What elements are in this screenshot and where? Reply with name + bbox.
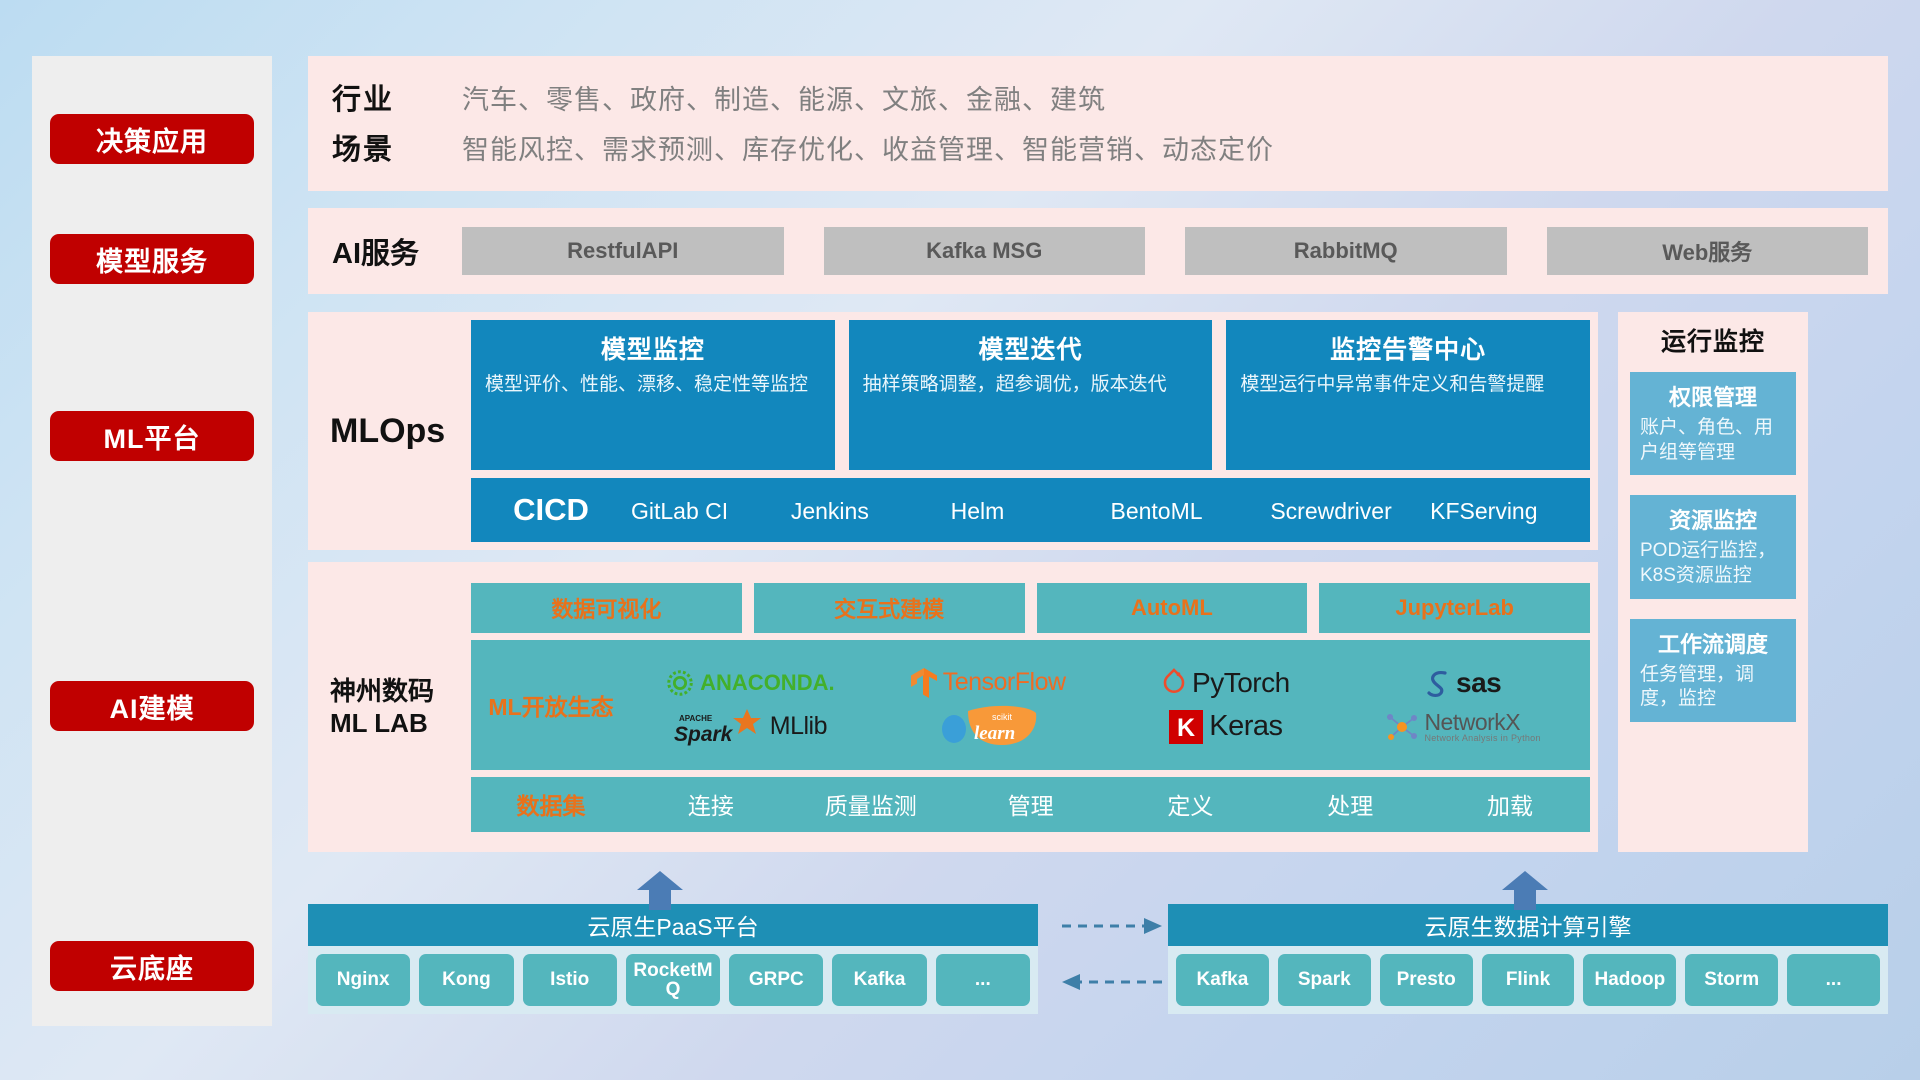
data-chip-spark[interactable]: Spark [1278, 954, 1371, 1006]
mlops-card-list: 模型监控 模型评价、性能、漂移、稳定性等监控 模型迭代 抽样策略调整，超参调优，… [471, 320, 1590, 470]
paas-chip-kong[interactable]: Kong [419, 954, 513, 1006]
monitor-card-workflow[interactable]: 工作流调度 任务管理，调度，监控 [1630, 619, 1796, 722]
service-chip-kafka-msg[interactable]: Kafka MSG [824, 227, 1146, 275]
svg-text:K: K [1177, 714, 1195, 742]
networkx-logo: NetworkX Network Analysis in Python [1385, 710, 1540, 744]
rail-item-label: 决策应用 [96, 120, 208, 159]
dataset-label: 数据集 [471, 787, 631, 821]
mlops-card-model-monitoring[interactable]: 模型监控 模型评价、性能、漂移、稳定性等监控 [471, 320, 835, 470]
pytorch-logo: PyTorch [1161, 667, 1290, 699]
paas-header: 云原生PaaS平台 [308, 904, 1038, 946]
sas-mark-icon [1425, 668, 1451, 698]
card-desc: 任务管理，调度，监控 [1640, 663, 1786, 712]
data-chip-storm[interactable]: Storm [1685, 954, 1778, 1006]
paas-chip-nginx[interactable]: Nginx [316, 954, 410, 1006]
card-desc: 模型运行中异常事件定义和告警提醒 [1240, 372, 1576, 397]
card-title: 模型监控 [485, 330, 821, 366]
scikit-orange-blob-icon: scikit learn [966, 705, 1040, 749]
sas-logo: sas [1425, 667, 1501, 699]
ml-ecosystem-label: ML开放生态 [471, 688, 631, 722]
paas-chip-rocketmq[interactable]: RocketMQ [626, 954, 720, 1006]
dataset-item-manage[interactable]: 管理 [951, 787, 1111, 821]
ml-lab-label-line2: ML LAB [330, 707, 471, 740]
cicd-item-kfserving[interactable]: KFServing [1430, 497, 1590, 523]
rail-item-label: ML平台 [104, 417, 201, 456]
spark-mllib-logo: APACHE Spark MLlib [673, 707, 827, 747]
ml-lab-tab-list: 数据可视化 交互式建模 AutoML JupyterLab [471, 583, 1590, 633]
card-desc: POD运行监控，K8S资源监控 [1640, 539, 1786, 588]
keras-wordmark: Keras [1209, 710, 1282, 743]
monitor-card-permission[interactable]: 权限管理 账户、角色、用户组等管理 [1630, 372, 1796, 475]
up-arrow-icon [633, 870, 687, 910]
keras-mark-icon: K [1168, 709, 1204, 745]
mlops-label: MLOps [308, 412, 471, 451]
decision-apps-band: 行业 汽车、零售、政府、制造、能源、文旅、金融、建筑 场景 智能风控、需求预测、… [308, 56, 1888, 191]
cloud-native-data-engine-group: 云原生数据计算引擎 Kafka Spark Presto Flink Hadoo… [1168, 904, 1888, 1014]
up-arrow-icon [1498, 870, 1552, 910]
tab-automl[interactable]: AutoML [1037, 583, 1308, 633]
cicd-item-jenkins[interactable]: Jenkins [791, 497, 951, 523]
industry-label: 行业 [332, 76, 462, 118]
svg-text:learn: learn [974, 723, 1015, 744]
rail-item-model-service[interactable]: 模型服务 [50, 234, 254, 284]
networkx-wordmark: NetworkX [1424, 711, 1540, 734]
runtime-monitoring-title: 运行监控 [1630, 322, 1796, 358]
card-title: 监控告警中心 [1240, 330, 1576, 366]
paas-chip-grpc[interactable]: GRPC [729, 954, 823, 1006]
pytorch-mark-icon [1161, 668, 1187, 698]
tensorflow-wordmark: TensorFlow [943, 668, 1066, 697]
card-desc: 模型评价、性能、漂移、稳定性等监控 [485, 372, 821, 397]
bidirectional-dashed-arrows-icon [1060, 912, 1164, 996]
paas-chip-kafka[interactable]: Kafka [832, 954, 926, 1006]
paas-chip-istio[interactable]: Istio [523, 954, 617, 1006]
dataset-item-process[interactable]: 处理 [1270, 787, 1430, 821]
runtime-monitoring-panel: 运行监控 权限管理 账户、角色、用户组等管理 资源监控 POD运行监控，K8S资… [1618, 312, 1808, 852]
rail-item-label: AI建模 [110, 687, 195, 726]
dataset-item-define[interactable]: 定义 [1110, 787, 1270, 821]
dataset-item-quality-monitor[interactable]: 质量监测 [791, 787, 951, 821]
svg-text:APACHE: APACHE [679, 714, 713, 723]
rail-item-label: 云底座 [110, 947, 194, 986]
card-title: 资源监控 [1640, 503, 1786, 535]
data-engine-chip-list: Kafka Spark Presto Flink Hadoop Storm ..… [1168, 946, 1888, 1014]
data-chip-kafka[interactable]: Kafka [1176, 954, 1269, 1006]
mllib-wordmark: MLlib [770, 712, 827, 741]
mlops-band: MLOps 模型监控 模型评价、性能、漂移、稳定性等监控 模型迭代 抽样策略调整… [308, 312, 1598, 550]
sas-wordmark: sas [1456, 667, 1501, 699]
rail-item-decision-apps[interactable]: 决策应用 [50, 114, 254, 164]
paas-chip-more[interactable]: ... [936, 954, 1030, 1006]
rail-item-label: 模型服务 [96, 240, 208, 279]
scenario-values: 智能风控、需求预测、库存优化、收益管理、智能营销、动态定价 [462, 128, 1274, 167]
card-title: 模型迭代 [863, 330, 1199, 366]
anaconda-logo: ANACONDA. [665, 668, 834, 698]
keras-logo: K Keras [1168, 709, 1282, 745]
svg-text:Spark: Spark [674, 723, 734, 746]
cloud-base-zone: 云原生PaaS平台 Nginx Kong Istio RocketMQ GRPC… [308, 870, 1888, 1030]
paas-chip-list: Nginx Kong Istio RocketMQ GRPC Kafka ... [308, 946, 1038, 1014]
dataset-item-list: 连接 质量监测 管理 定义 处理 加载 [631, 787, 1590, 821]
ml-lab-band: 神州数码 ML LAB 数据可视化 交互式建模 AutoML JupyterLa… [308, 562, 1598, 852]
pytorch-wordmark: PyTorch [1192, 667, 1290, 699]
mlops-card-model-iteration[interactable]: 模型迭代 抽样策略调整，超参调优，版本迭代 [849, 320, 1213, 470]
monitor-card-resource[interactable]: 资源监控 POD运行监控，K8S资源监控 [1630, 495, 1796, 598]
industry-row: 行业 汽车、零售、政府、制造、能源、文旅、金融、建筑 [332, 72, 1888, 122]
mlops-content: 模型监控 模型评价、性能、漂移、稳定性等监控 模型迭代 抽样策略调整，超参调优，… [471, 320, 1598, 542]
cicd-item-helm[interactable]: Helm [951, 497, 1111, 523]
cicd-item-gitlab-ci[interactable]: GitLab CI [631, 497, 791, 523]
cicd-item-screwdriver[interactable]: Screwdriver [1270, 497, 1430, 523]
cicd-row: CICD GitLab CI Jenkins Helm BentoML Scre… [471, 478, 1590, 542]
svg-text:scikit: scikit [992, 712, 1012, 722]
cicd-item-list: GitLab CI Jenkins Helm BentoML Screwdriv… [631, 497, 1590, 523]
industry-values: 汽车、零售、政府、制造、能源、文旅、金融、建筑 [462, 78, 1106, 117]
rail-item-ai-modeling[interactable]: AI建模 [50, 681, 254, 731]
tensorflow-logo: TensorFlow [910, 667, 1066, 699]
networkx-mark-icon [1385, 710, 1419, 744]
ml-ecosystem-row: ML开放生态 ANACONDA. TensorFlow [471, 640, 1590, 770]
dataset-row: 数据集 连接 质量监测 管理 定义 处理 加载 [471, 777, 1590, 832]
ai-service-chip-list: RestfulAPI Kafka MSG RabbitMQ Web服务 [462, 227, 1888, 275]
ml-lab-content: 数据可视化 交互式建模 AutoML JupyterLab ML开放生态 ANA… [471, 583, 1598, 832]
ai-service-band: AI服务 RestfulAPI Kafka MSG RabbitMQ Web服务 [308, 208, 1888, 294]
service-chip-web-service[interactable]: Web服务 [1547, 227, 1869, 275]
tab-jupyterlab[interactable]: JupyterLab [1319, 583, 1590, 633]
anaconda-mark-icon [665, 668, 695, 698]
cloud-native-paas-group: 云原生PaaS平台 Nginx Kong Istio RocketMQ GRPC… [308, 904, 1038, 1014]
anaconda-wordmark: ANACONDA. [700, 670, 834, 696]
rail-item-ml-platform[interactable]: ML平台 [50, 411, 254, 461]
spark-mark-icon: APACHE Spark [673, 707, 765, 747]
scenario-row: 场景 智能风控、需求预测、库存优化、收益管理、智能营销、动态定价 [332, 122, 1888, 172]
ml-lab-label: 神州数码 ML LAB [308, 675, 471, 740]
data-chip-flink[interactable]: Flink [1482, 954, 1575, 1006]
card-title: 工作流调度 [1640, 627, 1786, 659]
service-chip-rabbitmq[interactable]: RabbitMQ [1185, 227, 1507, 275]
cicd-label: CICD [471, 492, 631, 528]
data-chip-more[interactable]: ... [1787, 954, 1880, 1006]
service-chip-restfulapi[interactable]: RestfulAPI [462, 227, 784, 275]
tensorflow-mark-icon [910, 667, 938, 699]
rail-item-cloud-base[interactable]: 云底座 [50, 941, 254, 991]
data-chip-hadoop[interactable]: Hadoop [1583, 954, 1676, 1006]
card-title: 权限管理 [1640, 380, 1786, 412]
mlops-card-alert-center[interactable]: 监控告警中心 模型运行中异常事件定义和告警提醒 [1226, 320, 1590, 470]
tab-data-visualization[interactable]: 数据可视化 [471, 583, 742, 633]
data-engine-header: 云原生数据计算引擎 [1168, 904, 1888, 946]
cicd-item-bentoml[interactable]: BentoML [1110, 497, 1270, 523]
tab-interactive-modeling[interactable]: 交互式建模 [754, 583, 1025, 633]
networkx-tagline: Network Analysis in Python [1424, 734, 1540, 743]
card-desc: 账户、角色、用户组等管理 [1640, 416, 1786, 465]
ml-ecosystem-logo-grid: ANACONDA. TensorFlow PyTorch [631, 661, 1590, 749]
ai-service-label: AI服务 [332, 230, 462, 272]
dataset-item-load[interactable]: 加载 [1430, 787, 1590, 821]
ml-lab-label-line1: 神州数码 [330, 675, 471, 708]
scenario-label: 场景 [332, 126, 462, 168]
scikit-learn-logo: scikit learn [935, 705, 1040, 749]
dataset-item-connect[interactable]: 连接 [631, 787, 791, 821]
data-chip-presto[interactable]: Presto [1380, 954, 1473, 1006]
left-rail-panel: 决策应用 模型服务 ML平台 AI建模 云底座 [32, 56, 272, 1026]
card-desc: 抽样策略调整，超参调优，版本迭代 [863, 372, 1199, 397]
